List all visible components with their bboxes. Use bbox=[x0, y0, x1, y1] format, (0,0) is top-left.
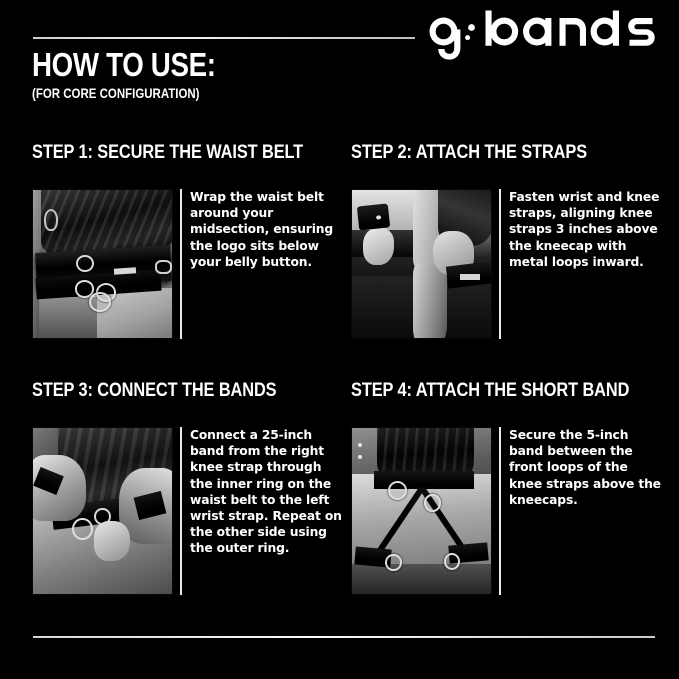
step-1: STEP 1: SECURE THE WAIST BELT Wrap the w… bbox=[32, 143, 347, 312]
header-top-rule bbox=[33, 37, 415, 39]
step-2-divider bbox=[499, 189, 501, 339]
photo-short-band bbox=[351, 427, 492, 595]
photo-waist-belt bbox=[32, 189, 173, 339]
step-4: STEP 4: ATTACH THE SHORT BAND Secure the… bbox=[351, 381, 675, 568]
step-1-divider bbox=[180, 189, 182, 339]
step-2: STEP 2: ATTACH THE STRAPS Fasten wrist a… bbox=[351, 143, 661, 312]
step-1-text: Wrap the waist belt around your midsecti… bbox=[190, 189, 342, 270]
step-3-heading: STEP 3: CONNECT THE BANDS bbox=[32, 381, 299, 400]
step-4-text: Secure the 5-inch band between the front… bbox=[509, 427, 661, 508]
step-4-heading: STEP 4: ATTACH THE SHORT BAND bbox=[351, 381, 629, 400]
qbands-logo bbox=[409, 8, 657, 66]
photo-connect-bands bbox=[32, 427, 173, 595]
step-1-heading: STEP 1: SECURE THE WAIST BELT bbox=[32, 143, 303, 162]
photo-wrist-knee-straps bbox=[351, 189, 492, 339]
page-title: HOW TO USE: bbox=[32, 48, 216, 81]
step-3-divider bbox=[180, 427, 182, 595]
step-3: STEP 3: CONNECT THE BANDS Connect a 25-i… bbox=[32, 381, 342, 568]
poster-root: HOW TO USE: (FOR CORE CONFIGURATION) STE… bbox=[0, 0, 679, 679]
step-2-text: Fasten wrist and knee straps, aligning k… bbox=[509, 189, 661, 270]
step-2-heading: STEP 2: ATTACH THE STRAPS bbox=[351, 143, 618, 162]
page-subtitle: (FOR CORE CONFIGURATION) bbox=[32, 86, 200, 100]
step-3-text: Connect a 25-inch band from the right kn… bbox=[190, 427, 342, 557]
step-4-divider bbox=[499, 427, 501, 595]
footer-bottom-rule bbox=[33, 636, 655, 638]
